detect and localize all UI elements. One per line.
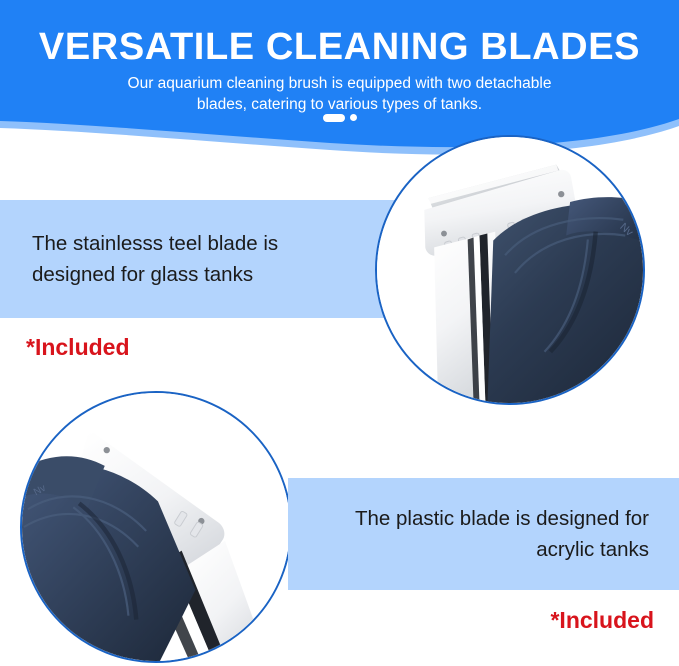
- header-subtitle-line-2: blades, catering to various types of tan…: [80, 94, 600, 115]
- page-title: VERSATILE CLEANING BLADES: [0, 0, 679, 68]
- plastic-blade-illustration: Nv: [22, 393, 290, 661]
- carousel-pagination[interactable]: [0, 113, 679, 123]
- product-photo-stainless-steel-blade: Nv: [375, 135, 645, 405]
- header-subtitle-line-1: Our aquarium cleaning brush is equipped …: [80, 73, 600, 94]
- header-banner: VERSATILE CLEANING BLADES Our aquarium c…: [0, 0, 679, 160]
- header-subtitle: Our aquarium cleaning brush is equipped …: [80, 68, 600, 115]
- included-label-stainless-steel: *Included: [26, 334, 130, 360]
- included-label-plastic: *Included: [550, 607, 654, 633]
- pagination-dot-inactive[interactable]: [350, 114, 357, 121]
- callout-text-stainless-steel: The stainlesss teel blade is designed fo…: [32, 228, 396, 290]
- callout-text-plastic: The plastic blade is designed for acryli…: [288, 503, 649, 565]
- pagination-dot-active[interactable]: [323, 114, 345, 122]
- header-text-group: VERSATILE CLEANING BLADES Our aquarium c…: [0, 0, 679, 115]
- stainless-steel-blade-illustration: Nv: [377, 137, 643, 403]
- callout-box-stainless-steel: The stainlesss teel blade is designed fo…: [0, 200, 396, 318]
- product-photo-plastic-blade: Nv: [20, 391, 292, 663]
- callout-box-plastic: The plastic blade is designed for acryli…: [288, 478, 679, 590]
- infographic-page: VERSATILE CLEANING BLADES Our aquarium c…: [0, 0, 679, 666]
